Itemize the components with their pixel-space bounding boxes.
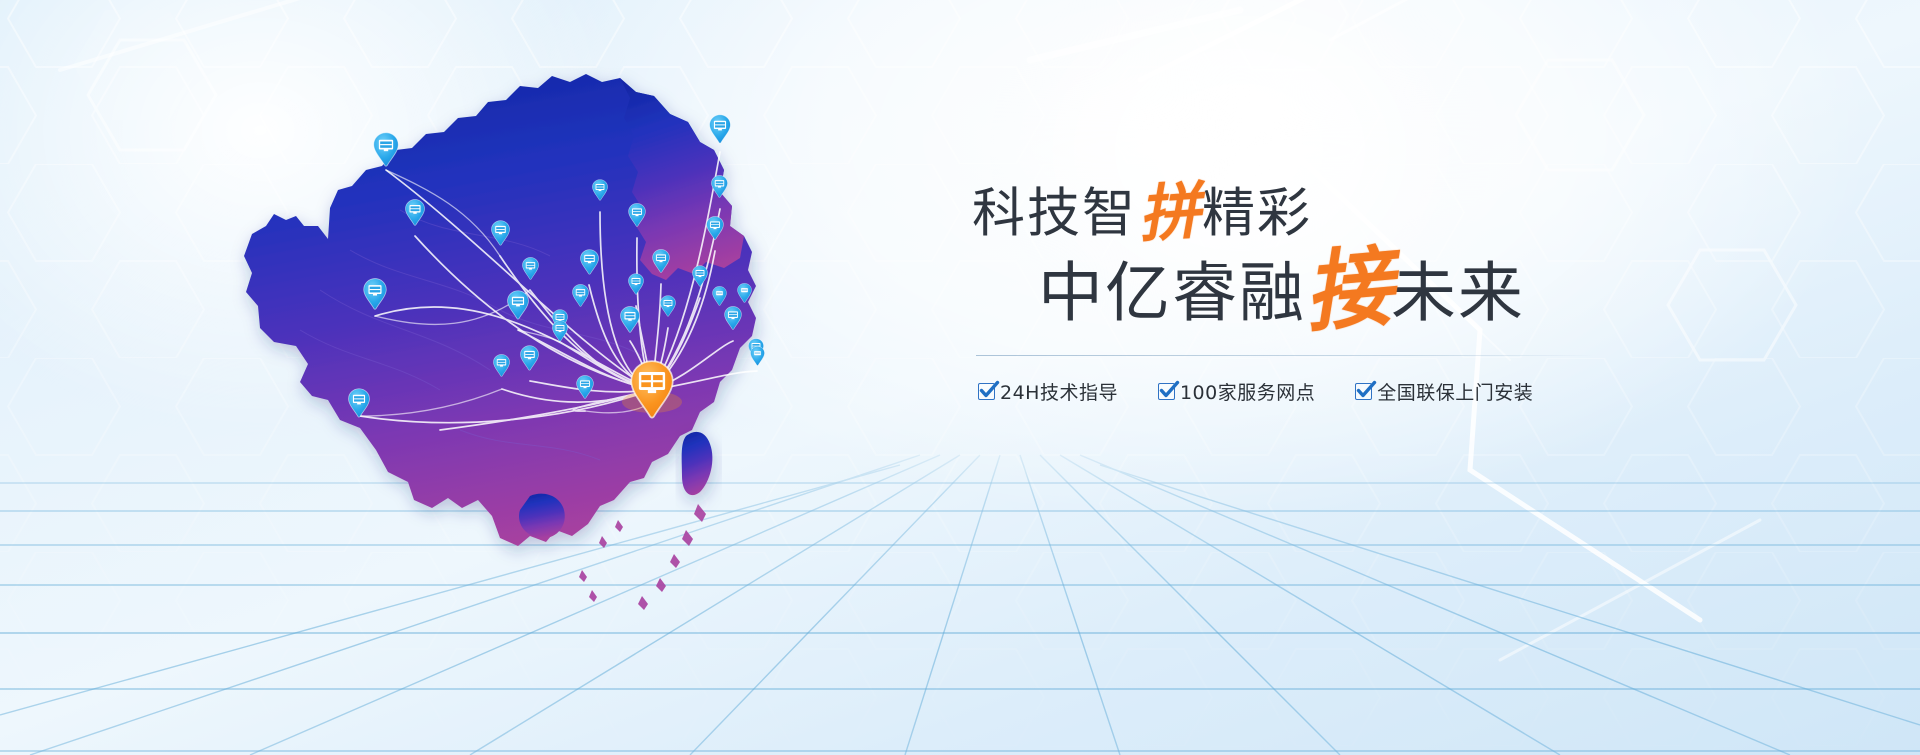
feature-item-support: 24H技术指导 (978, 378, 1118, 405)
feature-label: 全国联保上门安装 (1377, 378, 1533, 405)
feature-list: 24H技术指导 100家服务网点 全国联保上门安装 (978, 378, 1620, 405)
headline-line2-part2: 未来 (1391, 256, 1525, 331)
headline-divider (976, 355, 1596, 356)
location-pin-plain-icon (750, 346, 764, 365)
headline-line-1: 科技智拼精彩 (960, 185, 1620, 242)
headline-line-2: 中亿睿融接未来 (960, 252, 1620, 329)
headline-line1-brush-char: 拼 (1137, 178, 1203, 247)
china-service-map (200, 30, 840, 630)
headline-block: 科技智拼精彩 中亿睿融接未来 24H技术指导 (960, 185, 1620, 405)
check-box-icon (1355, 383, 1372, 400)
headline-line2-part1: 中亿睿融 (1038, 256, 1306, 331)
promo-banner: 科技智拼精彩 中亿睿融接未来 24H技术指导 (0, 0, 1920, 755)
headline-line1-part2: 精彩 (1202, 183, 1312, 244)
feature-label: 100家服务网点 (1180, 378, 1315, 405)
feature-item-warranty: 全国联保上门安装 (1355, 378, 1533, 405)
feature-item-network: 100家服务网点 (1158, 378, 1315, 405)
feature-label: 24H技术指导 (1000, 378, 1118, 405)
headline-line1-part1: 科技智 (972, 183, 1137, 244)
check-box-icon (1158, 383, 1175, 400)
headline-line2-brush-char: 接 (1301, 241, 1396, 341)
check-box-icon (978, 383, 995, 400)
location-pin-screen-icon (710, 115, 731, 143)
